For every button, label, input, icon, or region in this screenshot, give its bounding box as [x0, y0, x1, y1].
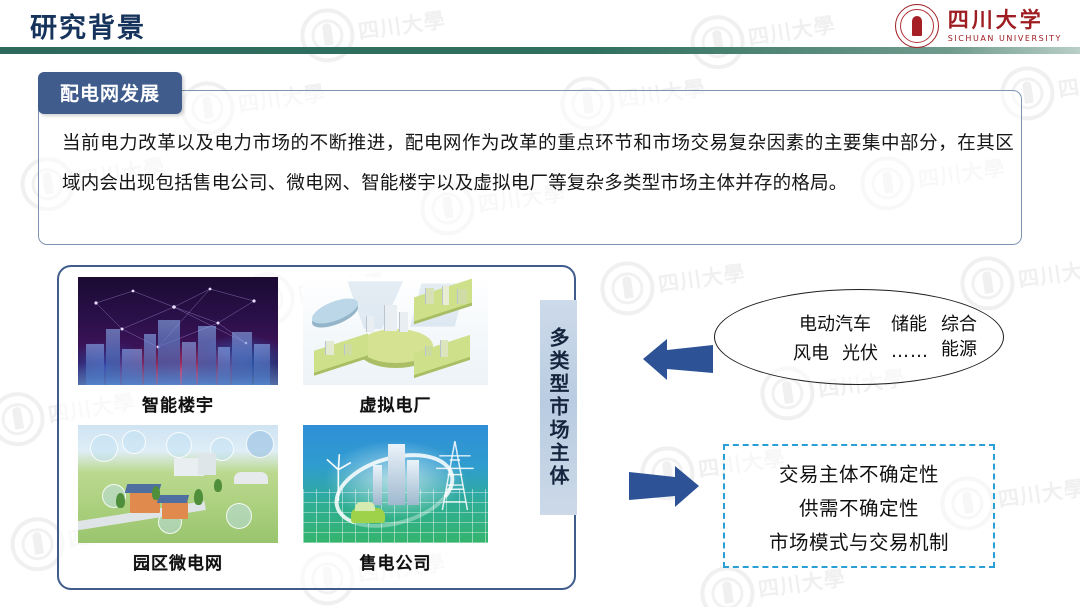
- uncertainty-line-2: 供需不确定性: [799, 492, 919, 521]
- uncertainty-line-3: 市场模式与交易机制: [769, 526, 949, 555]
- wind-turbine-icon: [318, 449, 359, 501]
- arrow-left-icon: [641, 333, 715, 383]
- university-seal-icon: [895, 4, 939, 48]
- title-divider: [0, 47, 1080, 54]
- transmission-tower-icon: [429, 437, 481, 510]
- smart-building-image: [78, 277, 278, 385]
- resource-ellipsis: ……: [891, 341, 929, 362]
- arrow-right-icon: [627, 460, 701, 510]
- entity-card-virtual-power-plant: 虚拟电厂: [303, 277, 488, 419]
- park-microgrid-image: [78, 425, 278, 543]
- virtual-power-plant-image: [303, 277, 488, 385]
- resource-types-callout: 电动汽车 储能 风电 光伏 …… 综合 能源: [714, 289, 1004, 385]
- multi-type-market-entity-label: 多类型市场主体: [540, 300, 577, 515]
- section-tab: 配电网发展: [38, 72, 182, 114]
- entity-card-park-microgrid: 园区微电网: [78, 425, 278, 575]
- resource-ev: 电动汽车: [799, 310, 871, 336]
- university-name-en: SICHUAN UNIVERSITY: [948, 35, 1062, 43]
- university-name-cn: 四川大学: [948, 10, 1062, 31]
- electricity-retailer-image: [303, 425, 488, 543]
- entity-caption: 虚拟电厂: [360, 391, 432, 416]
- entity-card-smart-building: 智能楼宇: [78, 277, 278, 419]
- university-logo: 四川大学 SICHUAN UNIVERSITY: [895, 4, 1062, 48]
- resource-integrated-energy-line1: 综合: [941, 312, 977, 337]
- resource-pv: 光伏: [842, 339, 878, 365]
- resource-storage: 储能: [891, 310, 927, 336]
- resource-wind: 风电: [793, 339, 829, 365]
- entity-image-grid: 智能楼宇 虚拟电厂: [78, 277, 533, 585]
- entity-caption: 智能楼宇: [142, 391, 214, 416]
- uncertainty-line-1: 交易主体不确定性: [779, 458, 939, 487]
- uncertainty-box: 交易主体不确定性 供需不确定性 市场模式与交易机制: [723, 444, 995, 568]
- page-title: 研究背景: [30, 6, 146, 45]
- entity-caption: 售电公司: [360, 549, 432, 574]
- entity-card-retailer: 售电公司: [303, 425, 488, 575]
- entity-caption: 园区微电网: [133, 549, 223, 574]
- resource-integrated-energy: 综合 能源: [941, 312, 977, 362]
- resource-integrated-energy-line2: 能源: [941, 337, 977, 362]
- statement-text: 当前电力改革以及电力市场的不断推进，配电网作为改革的重点环节和市场交易复杂因素的…: [62, 124, 1014, 204]
